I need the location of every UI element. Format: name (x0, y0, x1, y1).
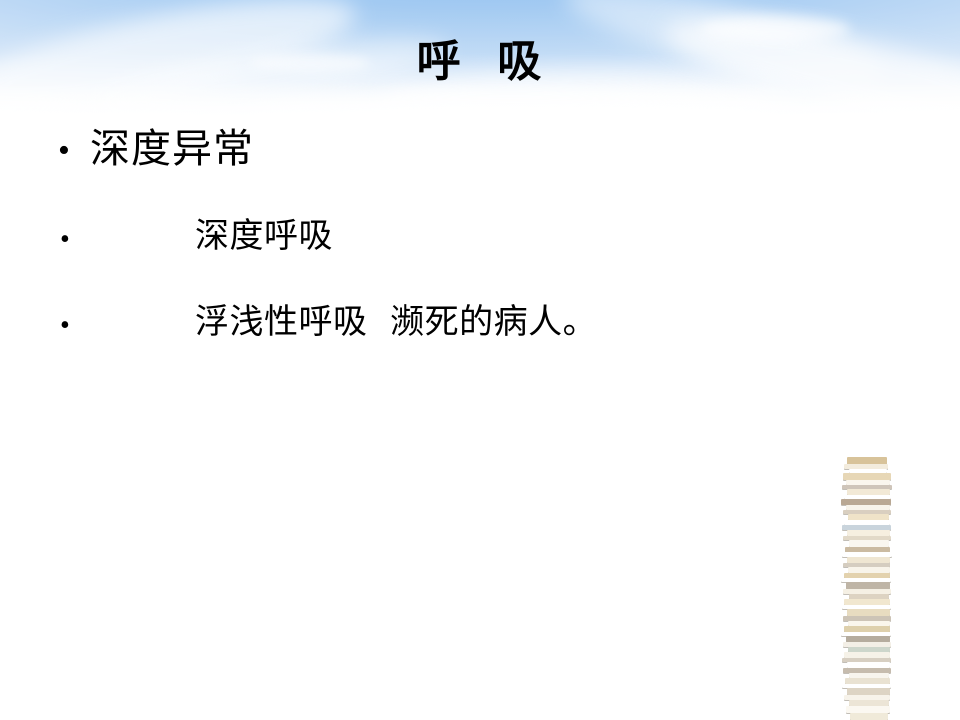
book-slab (847, 457, 887, 464)
bullet-marker-icon: • (60, 226, 70, 254)
book-slab (843, 473, 891, 480)
slide-canvas: 呼 吸 • 深度异常 • 深度呼吸 • 浮浅性呼吸 濒死的病人。 (0, 0, 960, 720)
book-slab (847, 609, 890, 616)
bullet-marker-icon: • (60, 312, 70, 340)
bullet-marker-icon: • (58, 134, 70, 168)
list-item-label: 浮浅性呼吸 濒死的病人。 (195, 296, 960, 348)
book-slab (846, 706, 890, 713)
bullet-list: • 深度异常 • 深度呼吸 • 浮浅性呼吸 濒死的病人。 (0, 118, 960, 382)
book-slab (850, 713, 888, 720)
book-stack-image (841, 455, 901, 720)
list-item: • 浮浅性呼吸 濒死的病人。 (0, 296, 960, 382)
book-slab (846, 582, 890, 589)
list-item-label: 深度异常 (90, 118, 960, 178)
list-item: • 深度呼吸 (0, 210, 960, 296)
book-slab (847, 688, 890, 695)
list-item: • 深度异常 (0, 118, 960, 210)
book-slab (849, 540, 889, 547)
page-title: 呼 吸 (0, 38, 960, 86)
list-item-label: 深度呼吸 (195, 210, 960, 262)
